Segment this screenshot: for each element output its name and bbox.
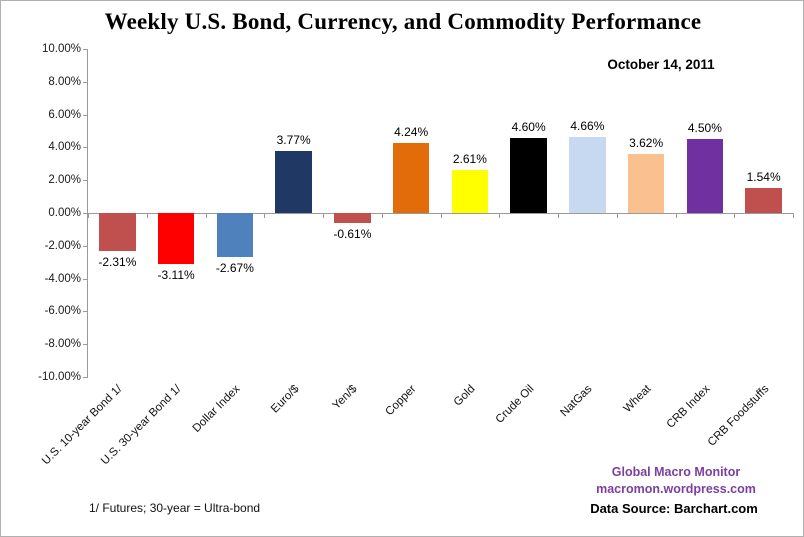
data-source: Data Source: Barchart.com — [554, 501, 794, 516]
y-axis-tick — [83, 180, 88, 181]
y-axis-tick — [83, 147, 88, 148]
bar-value-label: 3.77% — [277, 133, 311, 147]
y-axis-tick-label: -10.00% — [11, 371, 81, 383]
y-axis-tick-label: 6.00% — [11, 109, 81, 121]
bar-value-label: -3.11% — [158, 268, 195, 282]
y-axis-tick-label: -6.00% — [11, 305, 81, 317]
y-axis-tick — [83, 82, 88, 83]
bar[interactable] — [334, 213, 370, 223]
bar[interactable] — [628, 154, 664, 213]
x-axis-category-label: Copper — [297, 383, 419, 505]
y-axis-tick-label: 8.00% — [11, 76, 81, 88]
bar[interactable] — [452, 170, 488, 213]
y-axis-tick-label: 0.00% — [11, 207, 81, 219]
y-axis-tick-label: 10.00% — [11, 43, 81, 55]
footnote: 1/ Futures; 30-year = Ultra-bond — [89, 501, 260, 515]
credit-name: Global Macro Monitor — [561, 465, 791, 479]
bar-value-label: -0.61% — [333, 227, 371, 241]
x-axis-category-label: Euro/$ — [179, 383, 301, 505]
y-axis-tick — [83, 344, 88, 345]
bar-value-label: 4.66% — [570, 119, 604, 133]
x-axis-tick — [323, 213, 324, 218]
y-axis-tick-label: 2.00% — [11, 174, 81, 186]
x-axis-tick — [793, 213, 794, 218]
plot-area: -2.31%-3.11%-2.67%3.77%-0.61%4.24%2.61%4… — [87, 49, 792, 377]
x-axis-tick — [499, 213, 500, 218]
x-axis-tick — [206, 213, 207, 218]
x-axis-tick — [734, 213, 735, 218]
page-title: Weekly U.S. Bond, Currency, and Commodit… — [1, 9, 804, 35]
bar-value-label: 1.54% — [747, 170, 781, 184]
bar[interactable] — [687, 139, 723, 213]
x-axis-tick — [441, 213, 442, 218]
bar[interactable] — [569, 137, 605, 213]
x-axis-category-label: Yen/$ — [238, 383, 360, 505]
y-axis-tick — [83, 115, 88, 116]
bar[interactable] — [510, 138, 546, 213]
bar-value-label: -2.67% — [216, 261, 254, 275]
x-axis-category-label: U.S. 30-year Bond 1/ — [62, 383, 184, 505]
bar-value-label: 4.60% — [512, 120, 546, 134]
y-axis-tick — [83, 279, 88, 280]
y-axis-tick — [83, 49, 88, 50]
x-axis-category-label: Gold — [356, 383, 478, 505]
y-axis-tick-label: -4.00% — [11, 273, 81, 285]
bar[interactable] — [745, 188, 781, 213]
x-axis-category-labels: U.S. 10-year Bond 1/U.S. 30-year Bond 1/… — [87, 377, 792, 472]
x-axis-tick — [382, 213, 383, 218]
x-axis-tick — [617, 213, 618, 218]
x-axis-category-label: Dollar Index — [121, 383, 243, 505]
bar-value-label: 2.61% — [453, 152, 487, 166]
bar-value-label: -2.31% — [98, 255, 136, 269]
x-axis-tick — [88, 213, 89, 218]
bar[interactable] — [275, 151, 311, 213]
x-axis-category-label: Crude Oil — [414, 383, 536, 505]
y-axis-tick — [83, 246, 88, 247]
y-axis-tick — [83, 311, 88, 312]
bar-value-label: 4.50% — [688, 121, 722, 135]
y-axis-tick-label: 4.00% — [11, 141, 81, 153]
x-axis-tick — [264, 213, 265, 218]
x-axis-category-label: U.S. 10-year Bond 1/ — [3, 383, 125, 505]
chart-page: Weekly U.S. Bond, Currency, and Commodit… — [0, 0, 804, 537]
y-axis-tick-label: -8.00% — [11, 338, 81, 350]
x-axis-tick — [558, 213, 559, 218]
bar[interactable] — [99, 213, 135, 251]
y-axis-tick-label: -2.00% — [11, 240, 81, 252]
bar[interactable] — [158, 213, 194, 264]
bar-value-label: 4.24% — [394, 125, 428, 139]
x-axis-tick — [147, 213, 148, 218]
bar[interactable] — [217, 213, 253, 257]
x-axis-tick — [676, 213, 677, 218]
bar-value-label: 3.62% — [629, 136, 663, 150]
bar[interactable] — [393, 143, 429, 213]
y-axis-labels: 10.00%8.00%6.00%4.00%2.00%0.00%-2.00%-4.… — [9, 49, 81, 377]
credit-url[interactable]: macromon.wordpress.com — [561, 482, 791, 496]
